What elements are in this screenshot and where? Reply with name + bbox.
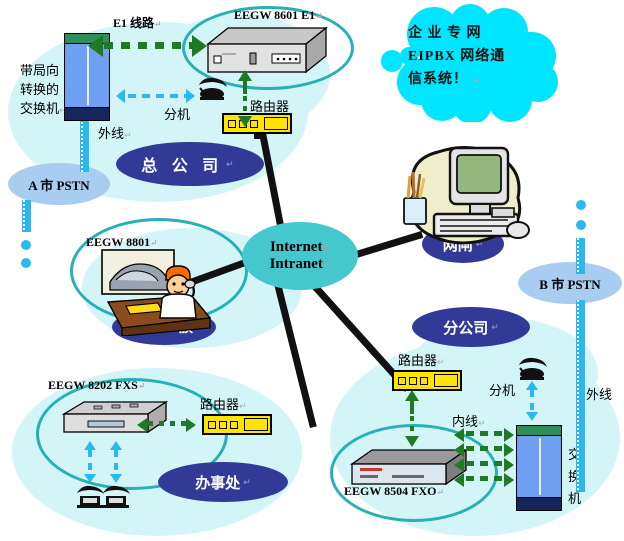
ext-hq-text: 分机: [164, 108, 190, 123]
bubble-line-2: EIPBX 网络通: [408, 45, 556, 68]
label-eegw8601: EEGW 8601 E1↵: [234, 8, 323, 23]
label-router-branch: 路由器↵: [398, 350, 445, 369]
pstn-b-ellipse: B 市 PSTN: [518, 262, 622, 304]
label-e1-line: E1 线路↵: [113, 14, 162, 31]
branch-pilcrow: ↵: [491, 322, 499, 333]
head-office-text: 总 公 司: [141, 152, 223, 176]
router-office-body: [202, 414, 272, 435]
router-branch-panel: [434, 374, 458, 387]
branch-text: 分公司: [443, 317, 488, 338]
hq-ext-arrow-right: [186, 89, 195, 103]
office-pilcrow: ↵: [243, 477, 251, 488]
office-phone1-dash: [88, 450, 92, 476]
router-hq-body: [222, 113, 292, 134]
eegw8202-device: [60, 400, 170, 438]
e1-line-text: E1 线路: [113, 16, 154, 30]
inner-line-4-arrow-right: [504, 473, 514, 487]
branch-ext-arrow-down: [526, 412, 538, 421]
label-ext-hq: 分机: [164, 104, 190, 123]
phone-icon-hq: [196, 76, 230, 104]
router-office-panel: [244, 418, 268, 431]
hub-pilcrow-1: ↵: [322, 243, 330, 253]
hub-line-1: Internet: [270, 239, 323, 255]
cabinet-body: [64, 44, 110, 108]
branch-ext-dash: [530, 390, 534, 414]
trunk-pstn-b-down: [576, 300, 585, 492]
head-office-pilcrow: ↵: [226, 159, 239, 170]
router-office-ports: [208, 421, 238, 429]
pbx-hq-label-l1: 带局向: [20, 62, 67, 81]
inner-line-3-dash: [466, 461, 506, 466]
router-hq-panel: [264, 117, 288, 130]
inner-line-3-arrow-right: [504, 458, 514, 472]
router-hq-stand: [254, 134, 261, 139]
branch-cabinet-top-panel: [516, 425, 562, 436]
office-fxs-dash: [148, 421, 186, 426]
hub-line-2-row: Intranet↵: [270, 256, 331, 273]
office-fxs-arrow-left: [137, 418, 147, 432]
pbx-branch-l3: 机: [568, 489, 581, 511]
inner-line-4-arrow-left: [454, 473, 464, 487]
router-branch-text: 路由器: [398, 354, 437, 369]
label-router-office: 路由器↵: [200, 394, 247, 413]
label-outside-branch: 外线: [586, 384, 612, 403]
bubble-line-1: 企 业 专 网: [408, 22, 556, 45]
pbx-hq-label: 带局向 转换的 交换机↵: [20, 62, 67, 121]
branch-cabinet-body: [516, 436, 562, 498]
pbx-cabinet-branch: [516, 425, 562, 511]
pstn-a-dot-2: [21, 258, 31, 268]
trunk-pstn-a-down: [22, 200, 31, 232]
router-office-pilcrow: ↵: [239, 402, 247, 412]
inner-line-2-dash: [466, 446, 506, 451]
eegw8601-device: [206, 26, 328, 74]
router-branch-body: [392, 370, 462, 391]
e1-dashed-line: [104, 42, 192, 49]
site-label-office: 办事处 ↵: [158, 462, 288, 502]
label-outside-line-hq: 外线↵: [98, 123, 132, 142]
outside-line-hq-text: 外线: [98, 127, 124, 142]
label-eegw8202: EEGW 8202 FXS↵: [48, 378, 145, 393]
router-office-text: 路由器: [200, 398, 239, 413]
router-branch-ports: [398, 377, 428, 385]
bubble-pilcrow: ↵: [473, 75, 482, 85]
branch-downlink-dash: [410, 416, 414, 438]
inner-line-4-dash: [466, 476, 506, 481]
office-phone1-arrow-down: [84, 474, 96, 483]
pstn-b-dot-2: [576, 220, 586, 230]
eegw8202-text: EEGW 8202 FXS: [48, 378, 138, 392]
hq-ext-arrow-left: [116, 89, 125, 103]
office-fxs-arrow-right: [186, 418, 196, 432]
branch-ext-arrow-up: [526, 381, 538, 390]
network-diagram-canvas: 企 业 专 网 EIPBX 网络通 信系统！ ↵ 带局向 转换的 交换机↵ 外线…: [0, 0, 624, 541]
gateway-computer-illustration: [396, 140, 530, 262]
label-ext-branch: 分机: [489, 380, 515, 399]
router-branch-pilcrow: ↵: [437, 358, 445, 368]
e1-arrow-left: [88, 35, 103, 57]
hub-line-2: Intranet: [270, 256, 323, 272]
e1-arrow-right: [192, 35, 207, 57]
office-phone2-arrow-up: [110, 441, 122, 450]
pbx-hq-label-l3-row: 交换机↵: [20, 100, 67, 121]
bubble-line-3-row: 信系统！ ↵: [408, 68, 556, 92]
trunk-pstn-b-up: [576, 238, 585, 274]
pstn-a-text: A 市 PSTN: [28, 175, 89, 194]
pstn-b-text: B 市 PSTN: [539, 274, 600, 293]
branch-cabinet-base: [516, 498, 562, 511]
hub-line-1-row: Internet↵: [270, 239, 330, 256]
pbx-hq-label-l3: 交换机: [20, 102, 59, 117]
pstn-a-ellipse: A 市 PSTN: [8, 163, 110, 205]
inner-line-3-arrow-left: [454, 458, 464, 472]
eegw8601-text: EEGW 8601 E1: [234, 8, 315, 22]
site-label-head-office: 总 公 司 ↵: [116, 142, 264, 186]
bubble-line-3: 信系统！: [408, 72, 468, 87]
outside-branch-text: 外线: [586, 388, 612, 403]
inner-line-pilcrow: ↵: [478, 419, 486, 429]
eegw8202-pilcrow: ↵: [138, 381, 146, 391]
hq-router-uplink-arrow-up: [238, 70, 252, 81]
office-text: 办事处: [195, 472, 240, 493]
inner-line-1-arrow-right: [504, 428, 514, 442]
office-phone2-arrow-down: [110, 474, 122, 483]
router-office: [202, 414, 272, 435]
hq-router-downlink-arrow-down: [238, 116, 252, 127]
enterprise-bubble-text: 企 业 专 网 EIPBX 网络通 信系统！ ↵: [408, 22, 556, 92]
office-phone1-arrow-up: [84, 441, 96, 450]
pstn-b-dot-1: [576, 200, 586, 210]
router-branch: [392, 370, 462, 391]
site-label-branch: 分公司 ↵: [412, 307, 530, 347]
eegw8801-text: EEGW 8801: [86, 235, 150, 249]
office-phone2-dash: [114, 450, 118, 476]
hq-ext-dashed: [128, 94, 188, 98]
hub-pilcrow-2: ↵: [323, 260, 331, 270]
router-head-office: [222, 113, 292, 139]
pstn-a-dot-1: [21, 240, 31, 250]
branch-uplink-arrow-up: [405, 390, 419, 401]
inner-line-2-arrow-right: [504, 443, 514, 457]
soho-workstation-illustration: [100, 248, 224, 336]
pbx-hq-label-l2: 转换的: [20, 81, 67, 100]
ext-branch-text: 分机: [489, 384, 515, 399]
eegw8601-pilcrow: ↵: [315, 11, 323, 21]
branch-downlink-arrow-down: [405, 436, 419, 447]
phone-icon-office-2: [100, 484, 132, 510]
eegw8504-device: [348, 448, 470, 490]
outside-line-hq-pilcrow: ↵: [124, 131, 132, 141]
inner-line-1-arrow-left: [454, 428, 464, 442]
inner-line-1-dash: [466, 431, 506, 436]
cabinet-base: [64, 108, 110, 121]
inner-line-2-arrow-left: [454, 443, 464, 457]
phone-icon-branch: [516, 356, 550, 384]
e1-line-pilcrow: ↵: [154, 19, 162, 29]
internet-intranet-hub: Internet↵ Intranet↵: [242, 222, 358, 290]
eegw8801-pilcrow: ↵: [150, 238, 158, 248]
